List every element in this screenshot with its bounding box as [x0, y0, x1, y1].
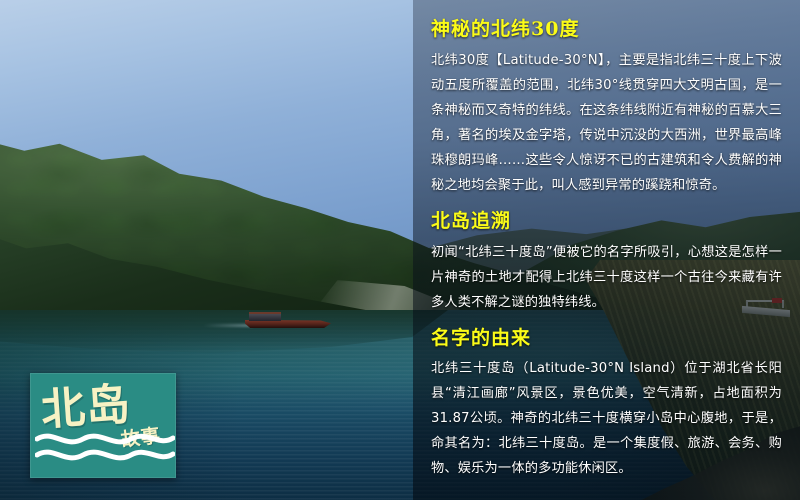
brand-logo-main-text: 北岛	[40, 383, 133, 433]
info-text-panel: 神秘的北纬30度 北纬30度【Latitude-30°N】，主要是指北纬三十度上…	[413, 0, 800, 500]
brand-logo-badge[interactable]: 北岛 故事	[30, 373, 176, 478]
boat-hull	[245, 320, 331, 328]
boat-wake	[203, 324, 253, 327]
boat-cabin	[249, 312, 281, 321]
section-title: 神秘的北纬30度	[431, 18, 782, 42]
promo-banner: 北岛 故事 神秘的北纬30度 北纬30度【Latitude-30°N】，主要是指…	[0, 0, 800, 500]
section-beidao-origin: 北岛追溯 初闻“北纬三十度岛”便被它的名字所吸引，心想这是怎样一片神奇的土地才配…	[431, 210, 782, 315]
section-title: 北岛追溯	[431, 210, 782, 234]
section-name-origin: 名字的由来 北纬三十度岛（Latitude-30°N Island）位于湖北省长…	[431, 327, 782, 482]
section-body: 北纬三十度岛（Latitude-30°N Island）位于湖北省长阳县“清江画…	[431, 356, 782, 481]
wave-lines-icon	[35, 427, 175, 467]
section-title: 名字的由来	[431, 327, 782, 351]
section-body: 北纬30度【Latitude-30°N】，主要是指北纬三十度上下波动五度所覆盖的…	[431, 48, 782, 198]
boat-icon	[245, 310, 331, 330]
section-mystery-30n: 神秘的北纬30度 北纬30度【Latitude-30°N】，主要是指北纬三十度上…	[431, 18, 782, 198]
section-body: 初闻“北纬三十度岛”便被它的名字所吸引，心想这是怎样一片神奇的土地才配得上北纬三…	[431, 240, 782, 315]
